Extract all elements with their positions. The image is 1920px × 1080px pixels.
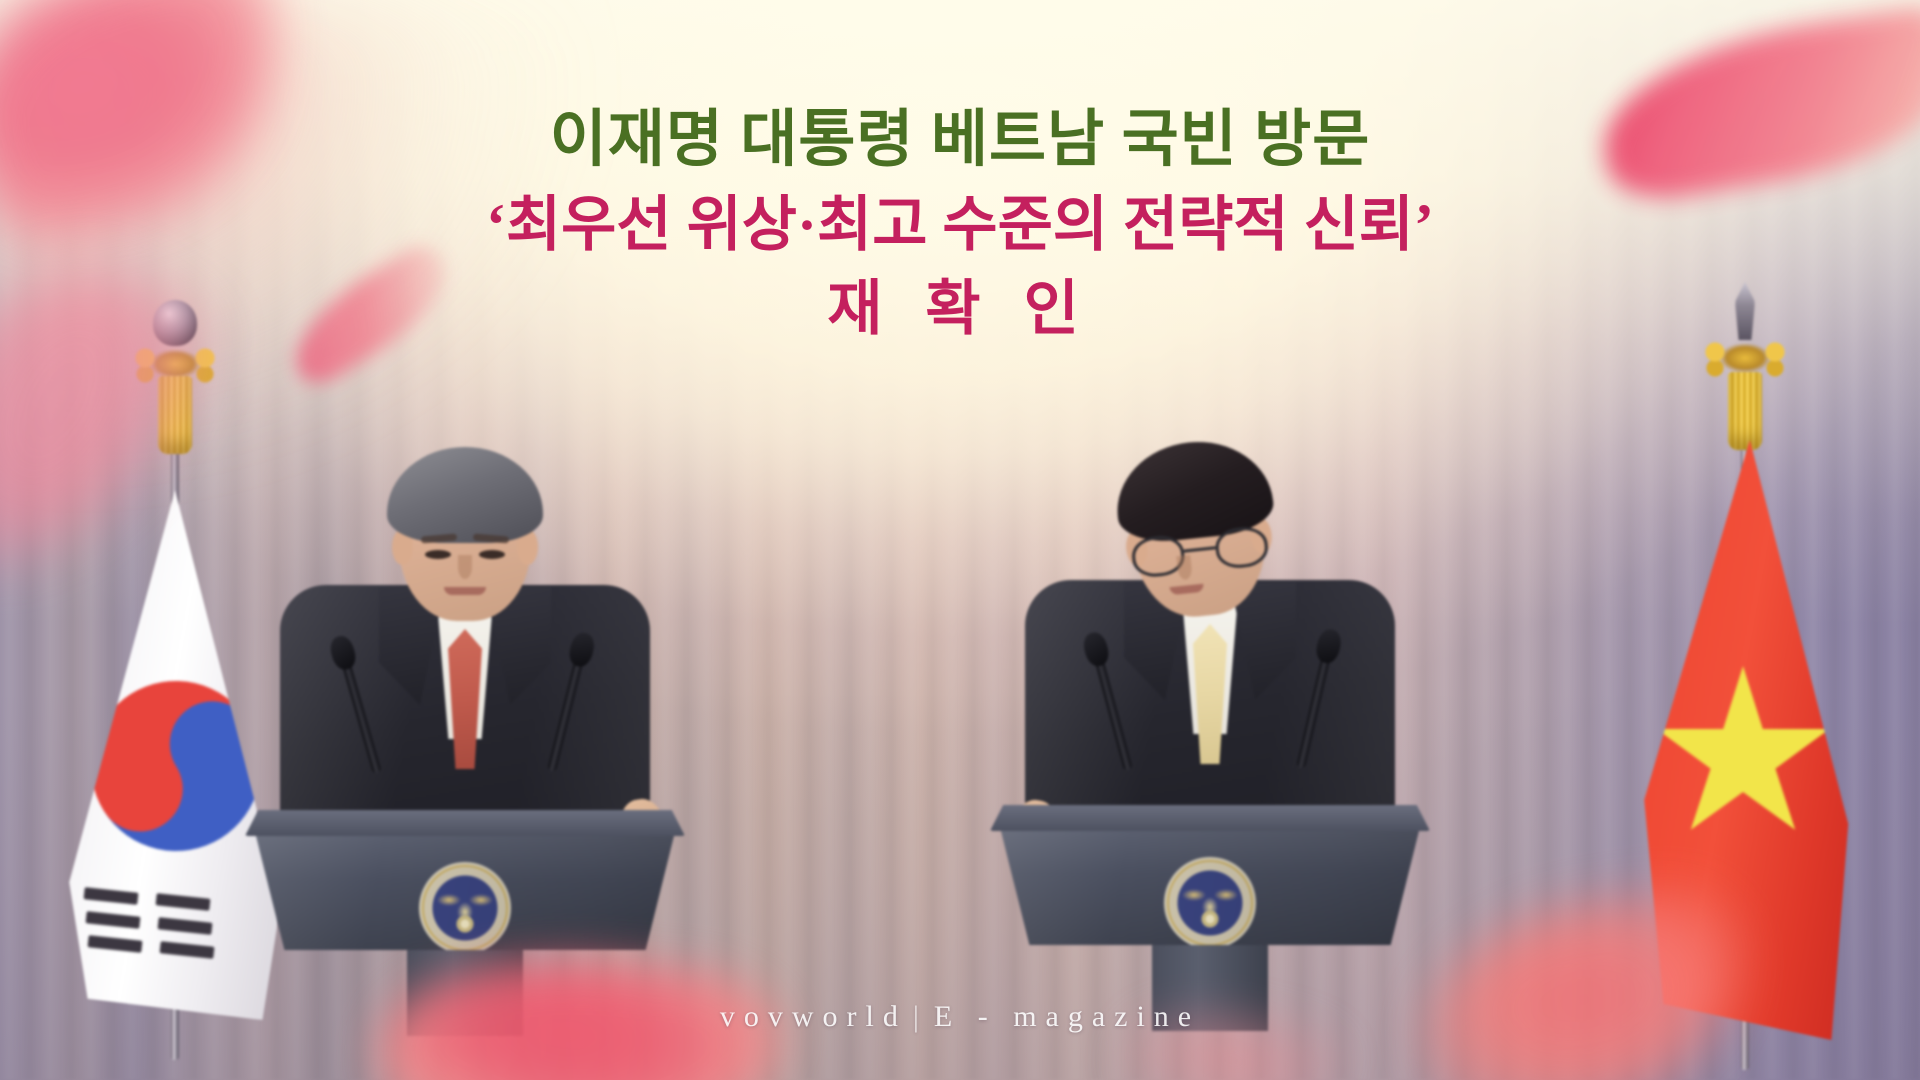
speaker-right: [1000, 450, 1420, 975]
poster-title: 이재명 대통령 베트남 국빈 방문 ‘최우선 위상·최고 수준의 전략적 신뢰’…: [0, 105, 1920, 344]
trigram-bar: [84, 887, 139, 905]
watermark-right-text: E - magazine: [934, 1000, 1200, 1033]
podium-top: [990, 805, 1430, 831]
title-line-1: 이재명 대통령 베트남 국빈 방문: [0, 105, 1920, 177]
watermark-separator: |: [907, 1000, 934, 1033]
presidential-seal-icon: [1164, 857, 1256, 949]
watermark: vovworld|E - magazine: [0, 1000, 1920, 1034]
trigram-bar: [158, 917, 213, 935]
speaker-left: [255, 455, 675, 975]
phoenix-emblem-icon: [437, 888, 493, 926]
trigram-bar: [156, 893, 211, 911]
podium-face: [255, 832, 675, 950]
nose: [1176, 555, 1192, 580]
trigram-bar: [88, 568, 148, 653]
seal-ring: [422, 865, 508, 951]
trigram-bar: [100, 520, 160, 605]
flag-vietnam: [1625, 290, 1865, 1030]
eye: [425, 550, 451, 559]
podium-top: [245, 810, 685, 836]
title-line-3: 재 확 인: [0, 275, 1920, 345]
mouth: [1170, 584, 1205, 596]
seal-ring: [1167, 860, 1253, 946]
title-line-2: ‘최우선 위상·최고 수준의 전략적 신뢰’: [0, 191, 1920, 261]
trigram-bar: [94, 544, 154, 629]
rose-of-sharon-icon: [1201, 910, 1219, 928]
phoenix-emblem-icon: [1182, 883, 1238, 921]
vietnam-star-icon: [1653, 666, 1833, 846]
mouth: [444, 587, 486, 595]
flagpole-tassel-left-icon: [158, 376, 192, 454]
speaker-left-hair: [387, 447, 543, 543]
podium-left: [245, 810, 685, 1030]
presidential-seal-icon: [419, 862, 511, 954]
trigram-bar: [88, 935, 143, 953]
eye: [479, 550, 505, 559]
nose: [458, 555, 472, 579]
speaker-left-head: [399, 455, 531, 621]
flagpole-tassel-right-icon: [1728, 372, 1762, 450]
watermark-left-text: vovworld: [720, 1000, 907, 1033]
poster-canvas: 이재명 대통령 베트남 국빈 방문 ‘최우선 위상·최고 수준의 전략적 신뢰’…: [0, 0, 1920, 1080]
rose-of-sharon-icon: [456, 915, 474, 933]
lens-right: [1214, 525, 1270, 570]
trigram-bar: [86, 911, 141, 929]
trigram-bar: [160, 941, 215, 959]
flag-cloth-vietnam: [1625, 440, 1865, 1040]
podium-face: [1000, 827, 1420, 945]
podium-right: [990, 805, 1430, 1025]
